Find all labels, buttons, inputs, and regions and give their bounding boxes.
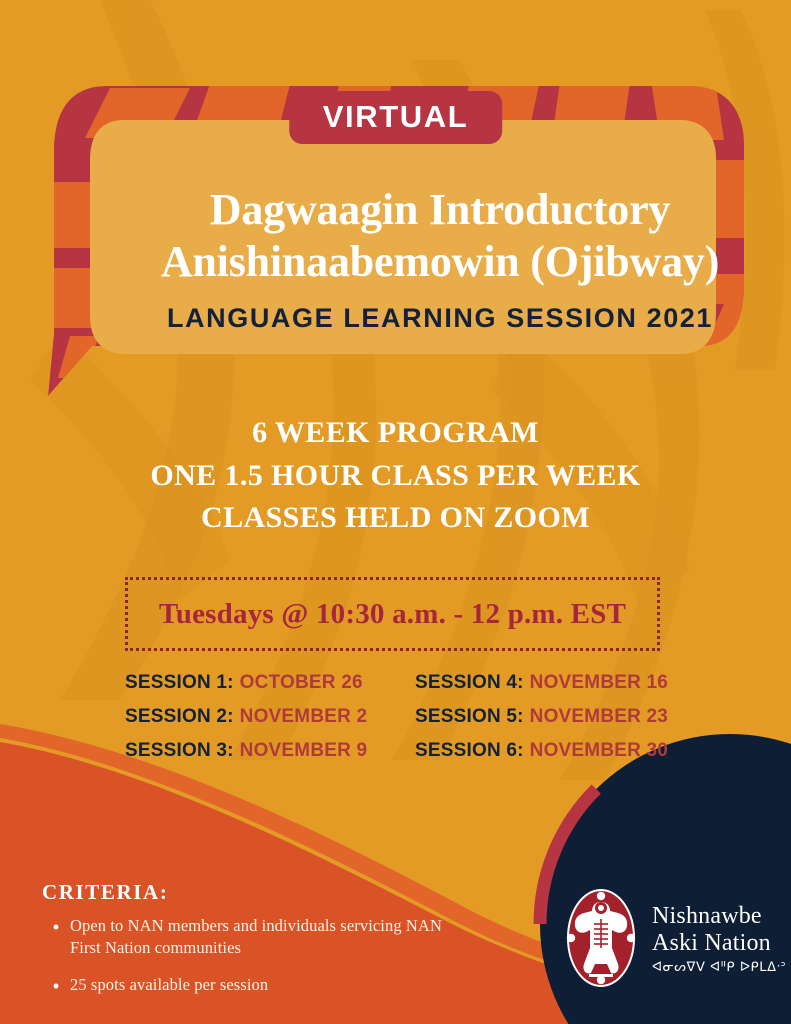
criteria-section: CRITERIA: • Open to NAN members and indi… [42,880,472,1012]
session-date: NOVEMBER 2 [240,706,368,727]
organization-logo: Nishnawbe Aski Nation ᐊᓂᔕᐁᐯ ᐊᐦᑭ ᐅᑭᒪᐃᐧᐣ [562,884,777,992]
logo-line-1: Nishnawbe [652,903,786,930]
logo-line-2: Aski Nation [652,930,786,957]
criteria-title: CRITERIA: [42,880,472,905]
program-line-3: CLASSES HELD ON ZOOM [0,497,791,540]
session-row: SESSION 3:NOVEMBER 9 [125,740,415,762]
bullet-icon: • [42,974,70,998]
poster-title-line-1: Dagwaagin Introductory [210,184,670,236]
logo-wordmark: Nishnawbe Aski Nation ᐊᓂᔕᐁᐯ ᐊᐦᑭ ᐅᑭᒪᐃᐧᐣ [652,901,786,975]
session-label: SESSION 3: [125,740,234,761]
criteria-list-item: • 25 spots available per session [42,974,472,998]
program-line-2: ONE 1.5 HOUR CLASS PER WEEK [0,455,791,498]
session-date: NOVEMBER 9 [240,740,368,761]
logo-syllabics: ᐊᓂᔕᐁᐯ ᐊᐦᑭ ᐅᑭᒪᐃᐧᐣ [652,960,786,975]
schedule-time-box: Tuesdays @ 10:30 a.m. - 12 p.m. EST [125,577,660,651]
criteria-item-text: 25 spots available per session [70,974,268,998]
criteria-item-text: Open to NAN members and individuals serv… [70,915,472,960]
session-label: SESSION 2: [125,706,234,727]
session-label: SESSION 1: [125,672,234,693]
session-row: SESSION 1:OCTOBER 26 [125,672,415,694]
program-line-1: 6 WEEK PROGRAM [0,412,791,455]
session-label: SESSION 4: [415,672,524,693]
session-row: SESSION 2:NOVEMBER 2 [125,706,415,728]
poster-subtitle: LANGUAGE LEARNING SESSION 2021 [167,303,713,334]
session-date: OCTOBER 26 [240,672,363,693]
program-details: 6 WEEK PROGRAM ONE 1.5 HOUR CLASS PER WE… [0,412,791,540]
session-date: NOVEMBER 16 [530,672,668,693]
nishnawbe-aski-nation-emblem-icon [562,886,640,990]
bullet-icon: • [42,915,70,960]
session-date: NOVEMBER 30 [530,740,668,761]
session-dates-grid: SESSION 1:OCTOBER 26 SESSION 4:NOVEMBER … [125,672,685,762]
virtual-badge: VIRTUAL [289,91,503,144]
session-row: SESSION 4:NOVEMBER 16 [415,672,685,694]
criteria-list-item: • Open to NAN members and individuals se… [42,915,472,960]
session-label: SESSION 5: [415,706,524,727]
schedule-time-text: Tuesdays @ 10:30 a.m. - 12 p.m. EST [159,598,626,631]
poster-title-line-2: Anishinaabemowin (Ojibway) [161,236,719,288]
session-date: NOVEMBER 23 [530,706,668,727]
session-row: SESSION 6:NOVEMBER 30 [415,740,685,762]
poster-canvas: Dagwaagin Introductory Anishinaabemowin … [0,0,791,1024]
session-row: SESSION 5:NOVEMBER 23 [415,706,685,728]
session-label: SESSION 6: [415,740,524,761]
